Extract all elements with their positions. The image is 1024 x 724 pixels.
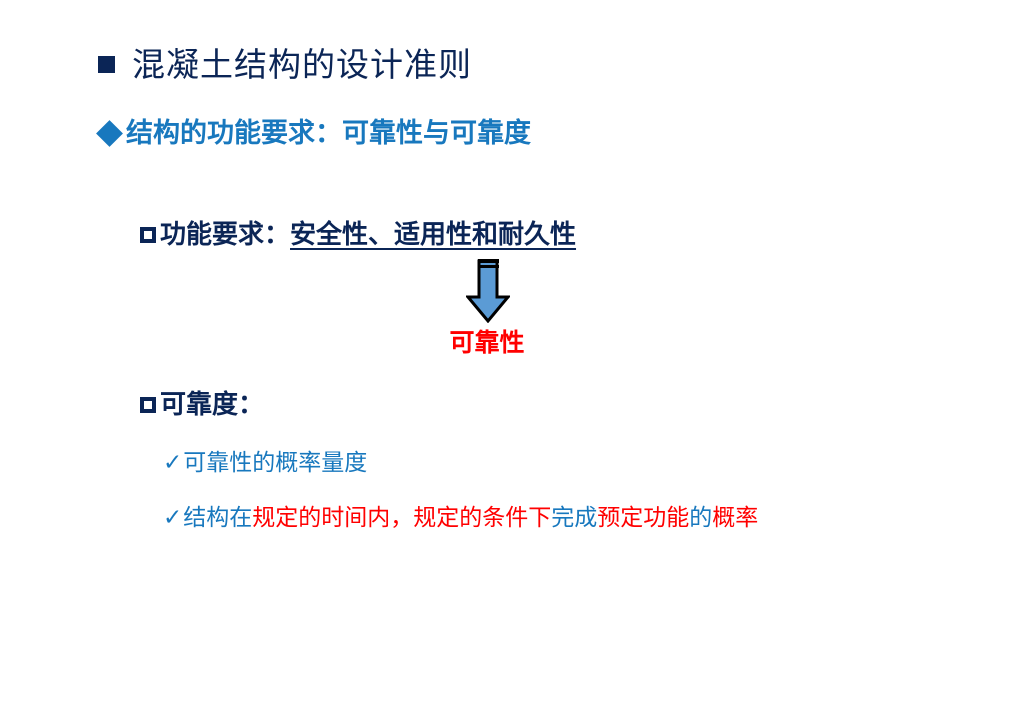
down-arrow-icon: [466, 259, 510, 323]
page-title: 混凝土结构的设计准则: [132, 48, 472, 81]
text-run-blue: 的: [689, 505, 712, 531]
text-run-blue: 结构在: [183, 505, 252, 531]
text-run-red: 概率: [712, 505, 758, 531]
hollow-square-bullet-icon: [140, 397, 156, 413]
requirement-label: 功能要求：: [160, 222, 290, 248]
keyword-emphasis-label: 可靠性: [449, 328, 524, 357]
requirement-line: 功能要求： 安全性、适用性和耐久性: [140, 222, 576, 248]
diamond-bullet-icon: [96, 120, 123, 147]
hollow-square-bullet-icon: [140, 227, 156, 243]
reliability-line: 可靠度：: [140, 392, 264, 418]
level2-heading-label: 结构的功能要求：可靠性与可靠度: [126, 120, 531, 147]
list-item: ✓ 结构在规定的时间内，规定的条件下完成预定功能的概率: [163, 503, 923, 533]
list-item-text: 可靠性的概率量度: [183, 448, 367, 478]
check-bullet-icon: ✓: [163, 503, 182, 533]
slide-canvas: 混凝土结构的设计准则 结构的功能要求：可靠性与可靠度 功能要求： 安全性、适用性…: [0, 0, 1024, 724]
text-run-red: 规定的时间内，规定的条件下: [252, 505, 551, 531]
list-item-text: 结构在规定的时间内，规定的条件下完成预定功能的概率: [183, 503, 758, 533]
requirement-value: 安全性、适用性和耐久性: [290, 222, 576, 248]
list-item: ✓ 可靠性的概率量度: [163, 448, 367, 478]
text-run-blue: 完成: [551, 505, 597, 531]
text-run-red: 预定功能: [597, 505, 689, 531]
slide-title: 混凝土结构的设计准则: [98, 48, 472, 81]
square-bullet-icon: [98, 56, 115, 73]
reliability-label: 可靠度：: [160, 392, 264, 418]
check-bullet-icon: ✓: [163, 448, 182, 478]
keyword-emphasis: 可靠性: [0, 330, 1024, 355]
text-run-blue: 可靠性的概率量度: [183, 450, 367, 476]
level2-heading: 结构的功能要求：可靠性与可靠度: [100, 120, 531, 147]
